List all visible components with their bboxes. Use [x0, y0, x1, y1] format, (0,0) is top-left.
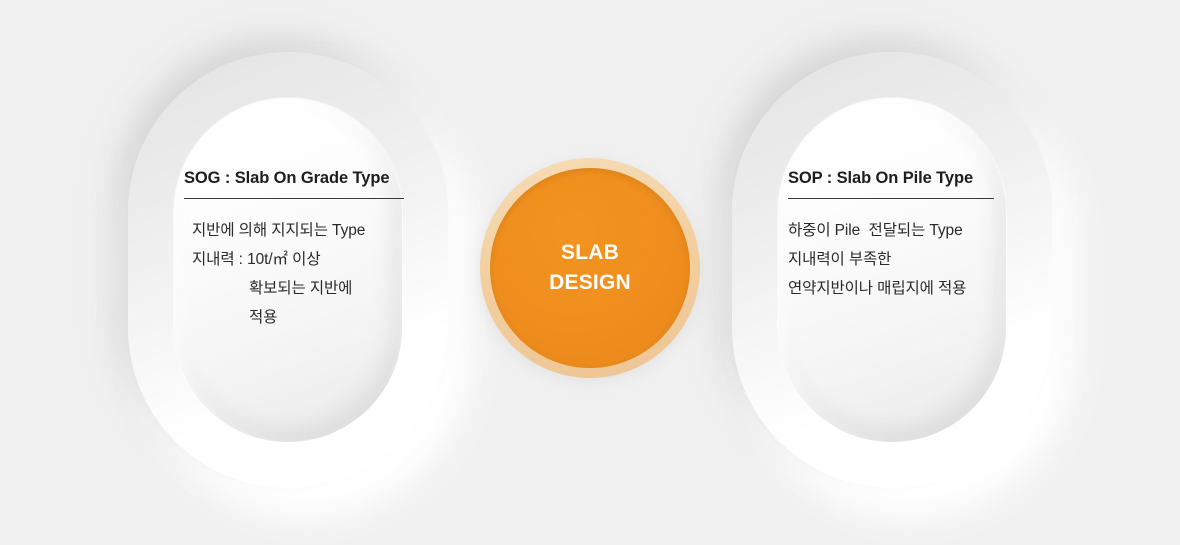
slab-design-label-line-2: DESIGN: [549, 268, 631, 298]
slab-design-circle[interactable]: SLAB DESIGN: [480, 158, 700, 378]
sop-body-line-1: 하중이 Pile 전달되는 Type: [788, 216, 994, 245]
sop-body-line-3: 연약지반이나 매립지에 적용: [788, 274, 994, 303]
sog-card-body: 지반에 의해 지지되는 Type 지내력 : 10t/㎡ 이상 확보되는 지반에…: [184, 216, 404, 332]
sop-card-title: SOP : Slab On Pile Type: [788, 170, 994, 187]
sog-card-content: SOG : Slab On Grade Type 지반에 의해 지지되는 Typ…: [184, 170, 404, 332]
sop-body-line-2: 지내력이 부족한: [788, 245, 994, 274]
slab-design-label: SLAB DESIGN: [549, 238, 631, 298]
slab-design-circle-fill: SLAB DESIGN: [490, 168, 690, 368]
slab-design-label-line-1: SLAB: [549, 238, 631, 268]
sog-body-line-1: 지반에 의해 지지되는 Type: [184, 216, 404, 245]
sog-body-line-4: 적용: [184, 303, 404, 332]
sog-card-divider: [184, 198, 404, 199]
diagram-canvas: SOG : Slab On Grade Type 지반에 의해 지지되는 Typ…: [0, 0, 1180, 545]
sop-card-body: 하중이 Pile 전달되는 Type 지내력이 부족한 연약지반이나 매립지에 …: [788, 216, 994, 303]
sog-card-title: SOG : Slab On Grade Type: [184, 170, 404, 187]
sog-body-line-3: 확보되는 지반에: [184, 274, 404, 303]
sop-card-content: SOP : Slab On Pile Type 하중이 Pile 전달되는 Ty…: [788, 170, 994, 303]
sop-card-divider: [788, 198, 994, 199]
sog-body-line-2: 지내력 : 10t/㎡ 이상: [184, 245, 404, 274]
